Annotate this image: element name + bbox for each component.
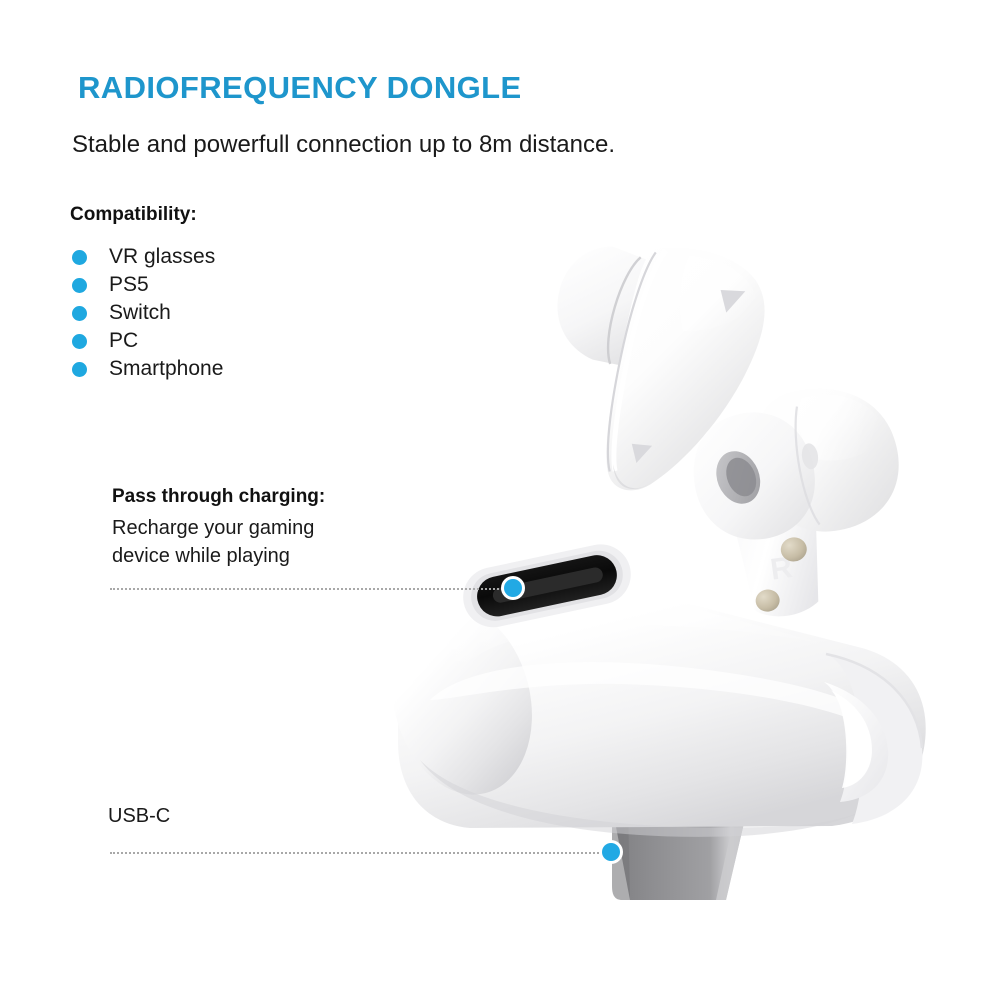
- earbud-left-mic-vent-top: [715, 284, 746, 316]
- blue-dot-bullet-icon: [72, 250, 87, 265]
- callout-charging-line1: Recharge your gaming: [112, 517, 314, 540]
- dongle-recess-cavity: [824, 682, 888, 802]
- blue-dot-bullet-icon: [72, 334, 87, 349]
- list-item: PS5: [72, 271, 372, 299]
- dongle: [373, 539, 926, 900]
- earbud-right-sensor: [800, 442, 819, 470]
- usb-c-port-rim: [458, 539, 637, 633]
- blue-dot-bullet-icon: [72, 306, 87, 321]
- earbud-left-mic-vent-bottom: [627, 440, 652, 466]
- list-item: Switch: [72, 299, 372, 327]
- blue-dot-bullet-icon: [72, 362, 87, 377]
- earbud-left: [509, 214, 780, 515]
- earbud-right-body: [747, 378, 907, 540]
- dongle-recess: [824, 654, 922, 824]
- page-subtitle: Stable and powerfull connection up to 8m…: [72, 131, 615, 159]
- list-item-label: PC: [109, 329, 138, 353]
- earbud-right-tip: [686, 405, 823, 548]
- earbud-right-contact-upper: [779, 536, 808, 563]
- callout-charging-title: Pass through charging:: [112, 486, 325, 508]
- callout-charging-leader-line: [110, 588, 510, 590]
- usb-c-plug: [612, 806, 748, 900]
- blue-dot-marker-icon: [504, 579, 522, 597]
- earbud-right-marking-r: R: [768, 551, 794, 587]
- compatibility-heading: Compatibility:: [70, 204, 197, 226]
- earbud-right-contact-lower: [754, 588, 781, 613]
- blue-dot-marker-icon: [602, 843, 620, 861]
- compatibility-list: VR glasses PS5 Switch PC Smartphone: [72, 243, 372, 383]
- list-item-label: PS5: [109, 273, 149, 297]
- callout-usbc-leader-line: [110, 852, 610, 854]
- usb-c-port: [458, 539, 637, 633]
- earbud-right-nozzle: [709, 445, 768, 511]
- callout-usbc-label: USB-C: [108, 805, 170, 828]
- list-item-label: Smartphone: [109, 357, 223, 381]
- product-infographic: R: [0, 0, 1000, 1000]
- list-item: VR glasses: [72, 243, 372, 271]
- page-title: RADIOFREQUENCY DONGLE: [78, 70, 522, 106]
- earbud-left-tip: [543, 235, 666, 372]
- blue-dot-bullet-icon: [72, 278, 87, 293]
- dongle-body: [398, 556, 926, 828]
- list-item-label: VR glasses: [109, 245, 215, 269]
- list-item-label: Switch: [109, 301, 171, 325]
- earbud-right-stem: R: [730, 490, 832, 622]
- earbud-left-body: [578, 235, 780, 515]
- list-item: PC: [72, 327, 372, 355]
- list-item: Smartphone: [72, 355, 372, 383]
- callout-charging-line2: device while playing: [112, 545, 290, 568]
- usb-c-port-opening: [473, 551, 620, 620]
- earbud-right: R: [684, 378, 918, 626]
